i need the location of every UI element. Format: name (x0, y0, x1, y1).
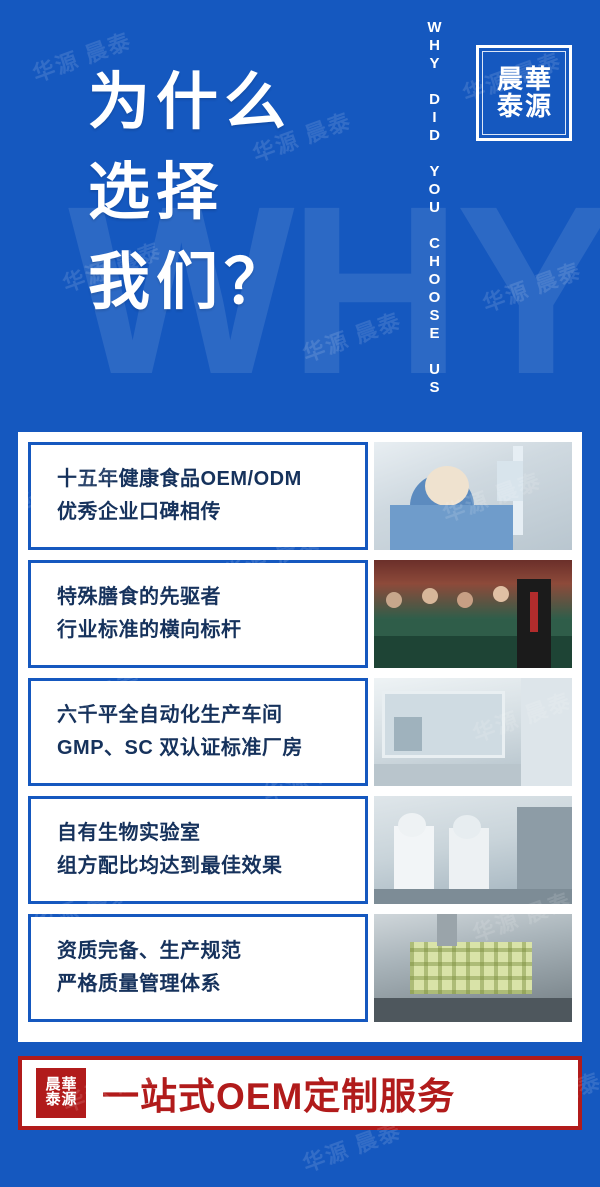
feature-3-line-1: 六千平全自动化生产车间 (57, 699, 365, 732)
poster-header: 为什么 选择 我们？ WHY DID YOU CHOOSE US 晨 華 泰 源 (0, 0, 600, 430)
banner-seal-char-1: 晨 (45, 1078, 60, 1093)
banner-seal-char-4: 源 (62, 1093, 77, 1108)
feature-photo-1 (374, 442, 572, 550)
feature-1-line-1: 十五年健康食品OEM/ODM (57, 463, 365, 496)
feature-row-3: 六千平全自动化生产车间 GMP、SC 双认证标准厂房 (28, 678, 572, 786)
feature-3-line-2: GMP、SC 双认证标准厂房 (57, 732, 365, 765)
seal-char-4: 源 (525, 93, 551, 120)
feature-text-1: 十五年健康食品OEM/ODM 优秀企业口碑相传 (28, 442, 368, 550)
feature-5-line-1: 资质完备、生产规范 (57, 935, 365, 968)
headline-line-3: 我们？ (88, 238, 292, 328)
feature-photo-3 (374, 678, 572, 786)
page-title: 为什么 选择 我们？ (88, 58, 292, 328)
feature-text-2: 特殊膳食的先驱者 行业标准的横向标杆 (28, 560, 368, 668)
banner-seal-logo: 晨 華 泰 源 (36, 1068, 86, 1118)
feature-row-2: 特殊膳食的先驱者 行业标准的横向标杆 (28, 560, 572, 668)
feature-photo-4 (374, 796, 572, 904)
feature-row-1: 十五年健康食品OEM/ODM 优秀企业口碑相传 (28, 442, 572, 550)
brand-seal-logo: 晨 華 泰 源 (476, 45, 572, 141)
brand-seal-inner: 晨 華 泰 源 (482, 51, 566, 135)
feature-photo-5 (374, 914, 572, 1022)
features-panel: 十五年健康食品OEM/ODM 优秀企业口碑相传 特殊膳食的先驱者 行业标准的横向… (18, 432, 582, 1042)
feature-4-line-1: 自有生物实验室 (57, 817, 365, 850)
feature-row-4: 自有生物实验室 组方配比均达到最佳效果 (28, 796, 572, 904)
feature-4-line-2: 组方配比均达到最佳效果 (57, 850, 365, 883)
headline-line-1: 为什么 (88, 58, 292, 148)
feature-2-line-2: 行业标准的横向标杆 (57, 614, 365, 647)
feature-text-5: 资质完备、生产规范 严格质量管理体系 (28, 914, 368, 1022)
vertical-english-subtitle: WHY DID YOU CHOOSE US (420, 18, 446, 398)
feature-2-line-1: 特殊膳食的先驱者 (57, 581, 365, 614)
feature-text-4: 自有生物实验室 组方配比均达到最佳效果 (28, 796, 368, 904)
banner-seal-char-2: 華 (62, 1078, 77, 1093)
feature-photo-2 (374, 560, 572, 668)
seal-char-2: 華 (525, 66, 551, 93)
seal-char-3: 泰 (497, 93, 523, 120)
feature-row-5: 资质完备、生产规范 严格质量管理体系 (28, 914, 572, 1022)
banner-seal-char-3: 泰 (45, 1093, 60, 1108)
banner-text: 一站式OEM定制服务 (102, 1066, 455, 1120)
headline-line-2: 选择 (88, 148, 292, 238)
feature-5-line-2: 严格质量管理体系 (57, 968, 365, 1001)
seal-char-1: 晨 (497, 66, 523, 93)
feature-1-line-2: 优秀企业口碑相传 (57, 496, 365, 529)
feature-text-3: 六千平全自动化生产车间 GMP、SC 双认证标准厂房 (28, 678, 368, 786)
bottom-cta-banner: 晨 華 泰 源 一站式OEM定制服务 (18, 1056, 582, 1130)
